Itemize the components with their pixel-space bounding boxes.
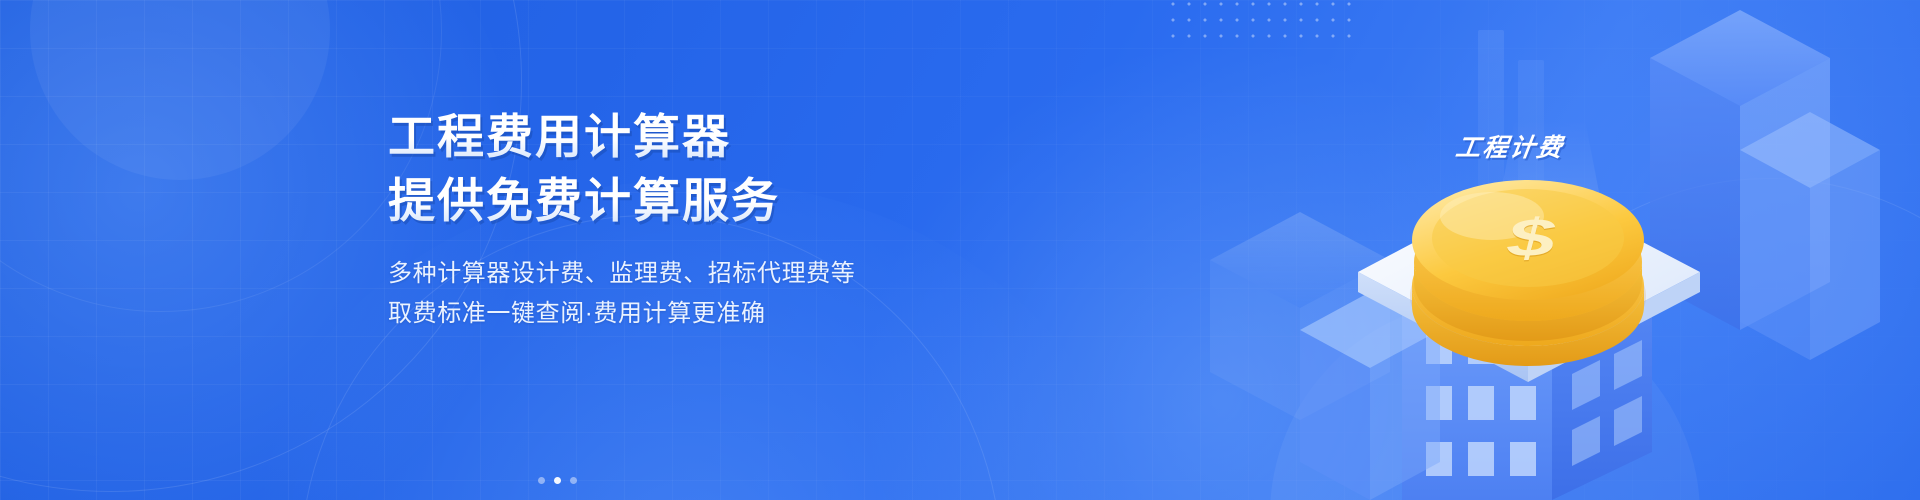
- subtitle-line-1: 多种计算器设计费、监理费、招标代理费等: [388, 254, 948, 294]
- carousel-dot[interactable]: [570, 477, 577, 484]
- subtitle-line-2: 取费标准一键查阅·费用计算更准确: [388, 294, 948, 334]
- subtitle-block: 多种计算器设计费、监理费、招标代理费等 取费标准一键查阅·费用计算更准确: [388, 254, 948, 334]
- background-tower-mid: [1740, 112, 1880, 360]
- promo-banner: $ 工程计费 工程费用计算器 提供免费计算服务 多种计算器设计费、监理费、招标代…: [0, 0, 1920, 500]
- headline-line-1: 工程费用计算器: [388, 108, 948, 166]
- dollar-symbol-icon: $: [1495, 211, 1568, 265]
- headline-line-2: 提供免费计算服务: [388, 172, 948, 230]
- illustration-badge-label: 工程计费: [1453, 128, 1566, 164]
- carousel-dot-active[interactable]: [554, 477, 561, 484]
- carousel-indicator[interactable]: [538, 477, 577, 484]
- banner-illustration: $ 工程计费: [1180, 0, 1920, 500]
- banner-copy: 工程费用计算器 提供免费计算服务 多种计算器设计费、监理费、招标代理费等 取费标…: [388, 108, 948, 334]
- carousel-dot[interactable]: [538, 477, 545, 484]
